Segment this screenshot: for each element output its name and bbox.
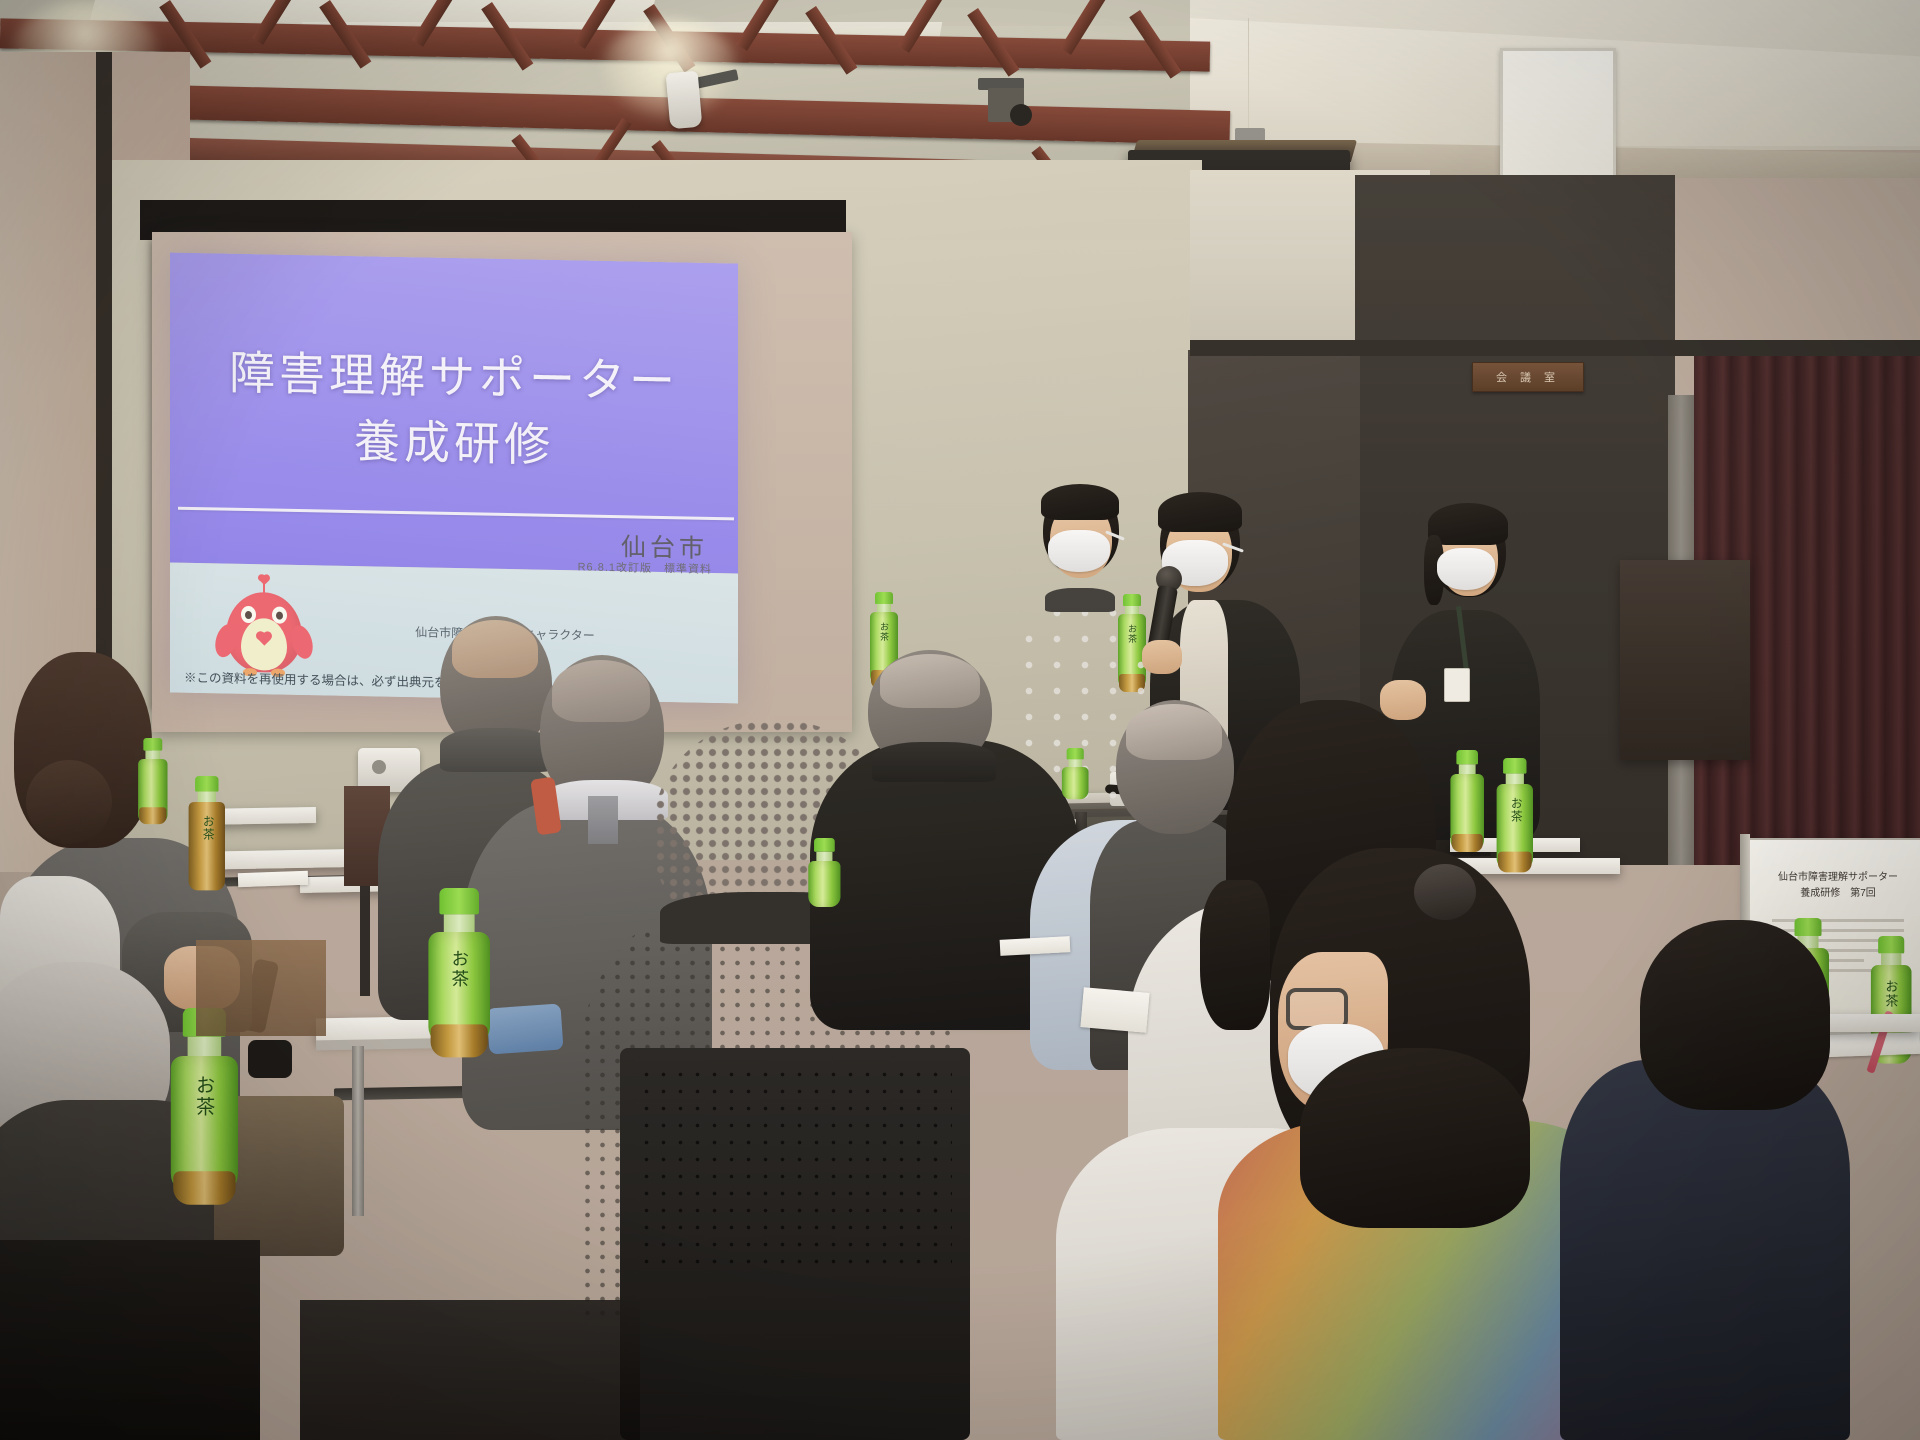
bottle-label: お茶 xyxy=(200,815,217,862)
mascot-eye-left xyxy=(241,606,256,623)
mascot-heart-antenna-top xyxy=(257,572,271,584)
panel-top-trim xyxy=(1190,340,1920,356)
foreground-shadow-2 xyxy=(300,1300,640,1440)
audience-3-hair-top xyxy=(552,660,650,722)
cart-pole xyxy=(360,886,370,996)
slide-title-line1: 障害理解サポーター xyxy=(170,349,738,407)
slide-top-panel xyxy=(170,253,738,574)
audience-4-chair xyxy=(620,1048,970,1440)
audience-2-collar xyxy=(440,728,554,772)
speaker-suspension-wire xyxy=(1248,18,1249,130)
wall-plaque: 会 議 室 xyxy=(1472,362,1584,392)
panelist-2-hair-top xyxy=(1158,492,1242,532)
bottle-label: お茶 xyxy=(192,1075,218,1157)
projected-slide: 障害理解サポーター 養成研修 仙台市 R6.8.1改訂版 標準資料 xyxy=(170,253,738,704)
audience-10-torso xyxy=(1560,1060,1850,1440)
panelist-1-hair-top xyxy=(1041,484,1119,520)
floor xyxy=(196,940,326,1036)
projector-lens xyxy=(1010,104,1032,126)
mascot-heart-belly xyxy=(256,630,272,643)
blue-cloth xyxy=(486,1003,563,1054)
audience-6-hair-top xyxy=(1126,704,1222,760)
mascot-eye-right xyxy=(272,607,287,624)
audience-2-scalp xyxy=(452,620,538,678)
audience-5-hair-top xyxy=(880,654,980,708)
panelist-2-hand xyxy=(1142,640,1182,674)
bottle-label: お茶 xyxy=(1508,797,1525,841)
mascot-kokoron xyxy=(216,575,312,677)
podium xyxy=(1620,560,1750,760)
audience-10-hair xyxy=(1640,920,1830,1110)
audience-5-collar xyxy=(872,742,996,782)
projector-lens-front xyxy=(372,760,386,774)
stand-sign-title-line1: 仙台市障害理解サポーター xyxy=(1748,868,1920,883)
wall-plaque-text: 会 議 室 xyxy=(1496,369,1560,385)
stand-sign-title-line2: 養成研修 第7回 xyxy=(1748,884,1920,899)
paper-handout xyxy=(238,871,308,887)
panelist-3-badge xyxy=(1444,668,1470,702)
foreground-shadow xyxy=(0,1240,260,1440)
audience-3-tie xyxy=(588,796,618,844)
panelist-1-mask xyxy=(1048,530,1110,572)
spotlight xyxy=(666,71,703,130)
audience-8-hair-clip xyxy=(1414,864,1476,920)
bottle-label: お茶 xyxy=(878,622,891,662)
audience-9-hair xyxy=(1300,1048,1530,1228)
panelist-3-mask xyxy=(1437,548,1495,590)
paper-handout xyxy=(1080,987,1149,1033)
panelist-3-hand xyxy=(1380,680,1426,720)
equipment-box xyxy=(248,1040,292,1078)
audience-7-hair-strand xyxy=(1200,880,1270,1030)
seminar-room-photo: TOA 会 議 室 障害理解サポーター 養成研修 仙台市 R6.8.1改訂版 標… xyxy=(0,0,1920,1440)
bottle-label: お茶 xyxy=(448,950,472,1016)
audience-desk xyxy=(1820,1014,1920,1032)
slide-revision-label: R6.8.1改訂版 標準資料 xyxy=(578,558,712,577)
panelist-1-collar xyxy=(1045,588,1115,612)
desk-leg xyxy=(352,1046,364,1216)
audience-1-bun xyxy=(26,760,112,844)
